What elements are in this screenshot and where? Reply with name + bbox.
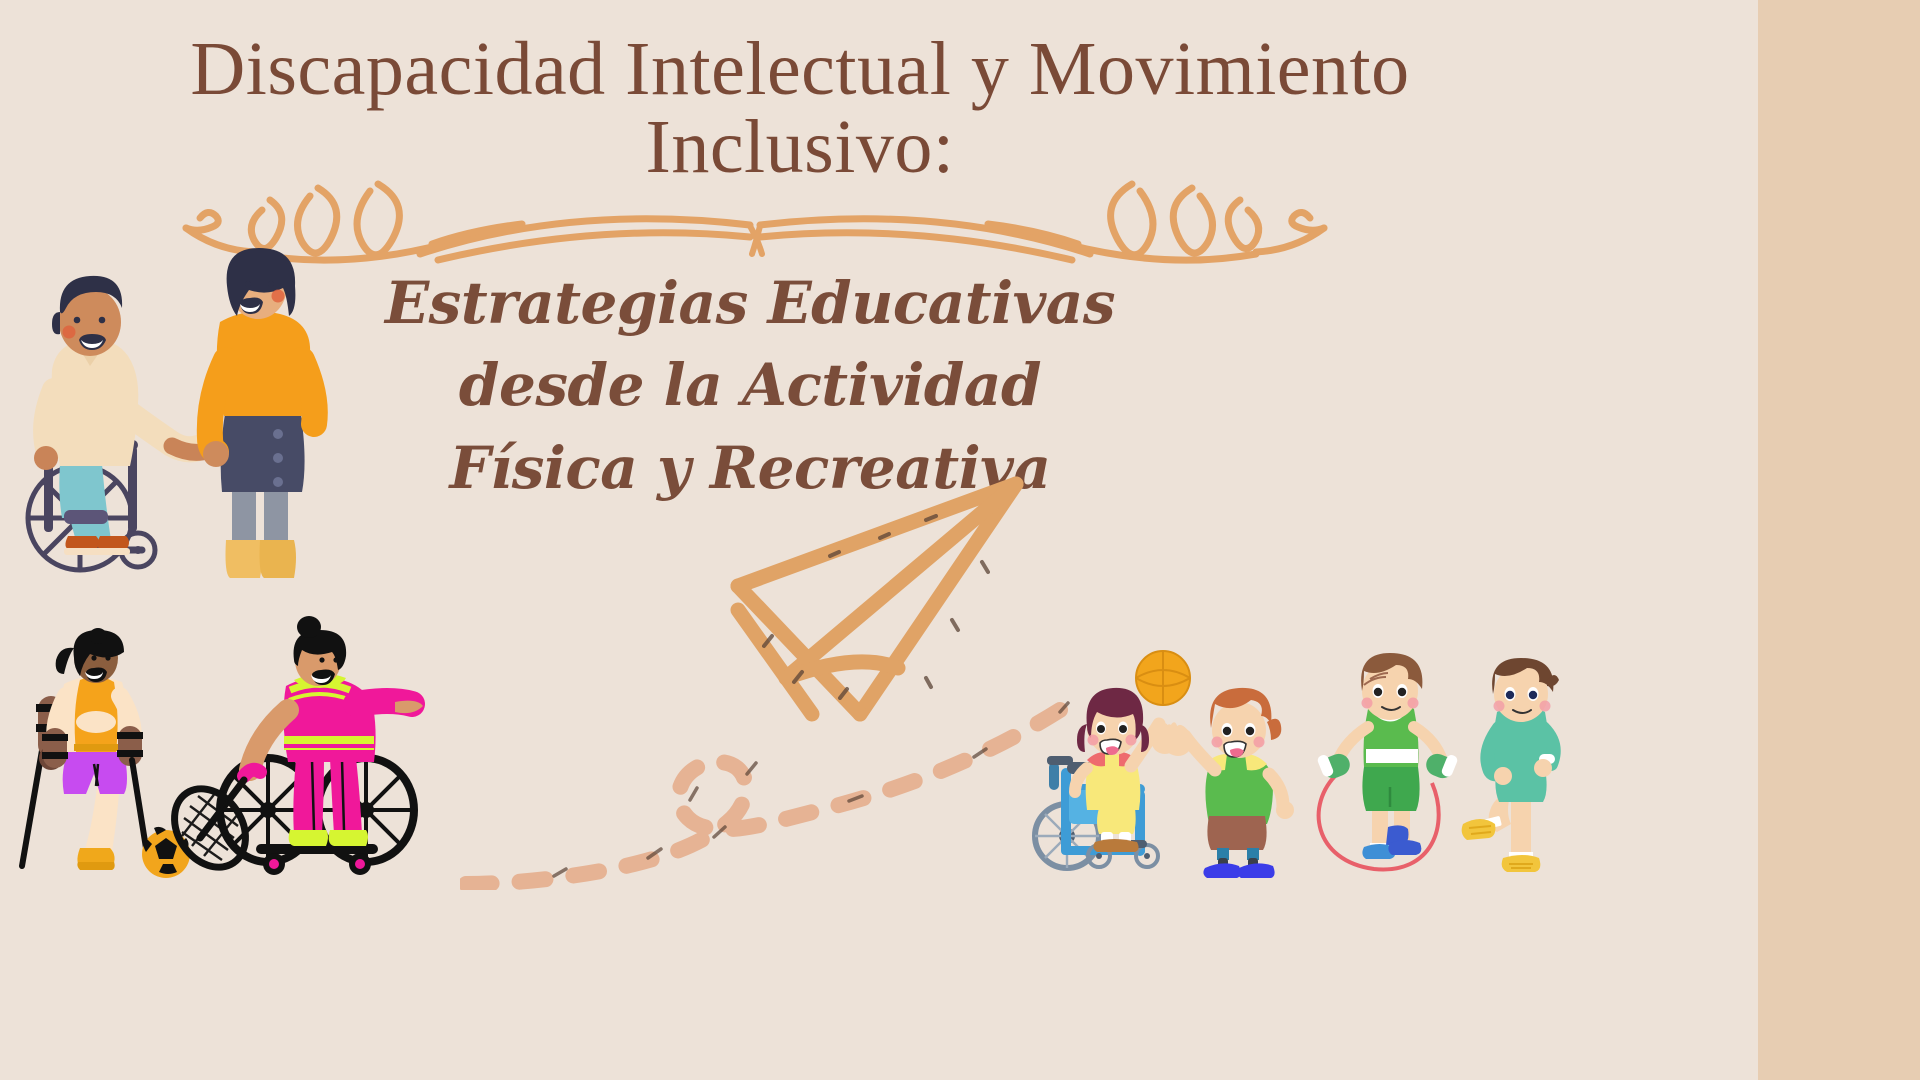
illustration-amputee-girl-with-crutch-and-soccer-ball xyxy=(20,630,200,880)
subtitle-line-2: desde la Actividad xyxy=(330,344,1170,426)
page-title: Discapacidad Intelectual y Movimiento In… xyxy=(140,30,1460,187)
background-right-panel xyxy=(1758,0,1920,1080)
illustration-boy-jumping-rope xyxy=(1320,655,1460,880)
poster-canvas: Discapacidad Intelectual y Movimiento In… xyxy=(0,0,1920,1080)
illustration-boy-stretching-leg xyxy=(1455,660,1575,880)
title-line-1: Discapacidad Intelectual y Movimiento xyxy=(190,27,1409,111)
illustration-man-in-wheelchair-with-woman xyxy=(20,250,310,590)
illustration-girl-in-wheelchair-with-tennis-racket xyxy=(190,630,425,880)
illustration-girl-in-wheelchair-and-boy-with-prosthetic-legs-playing-basketball xyxy=(1035,650,1335,880)
subtitle-line-1: Estrategias Educativas xyxy=(330,262,1170,344)
dashed-flight-path-icon xyxy=(460,690,1080,890)
